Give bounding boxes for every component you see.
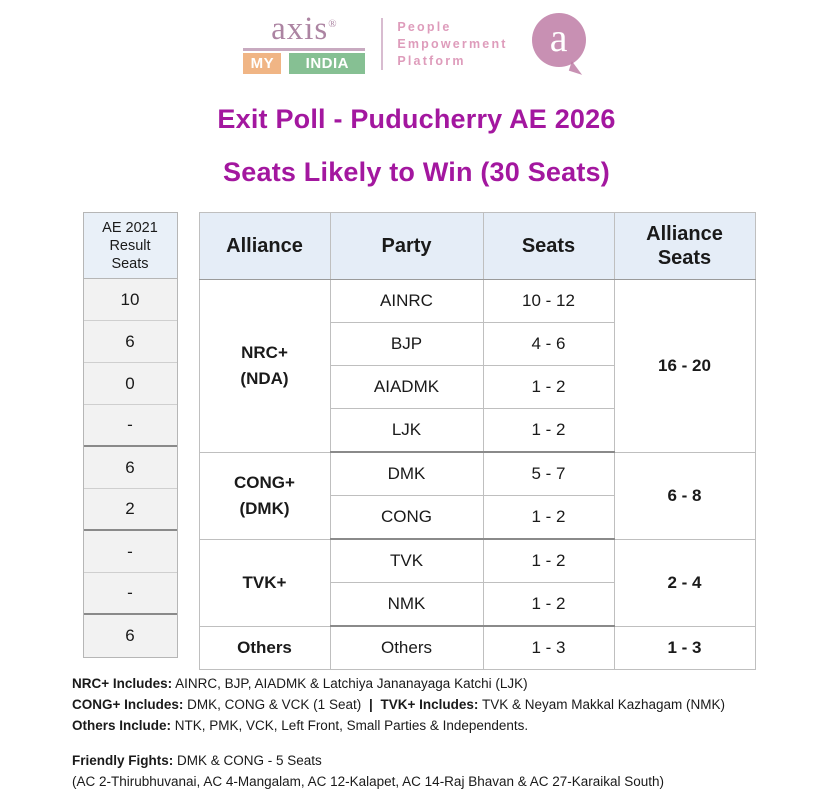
header-alliance-seats-line-1: Alliance bbox=[615, 222, 755, 246]
party-cell: DMK bbox=[330, 452, 483, 496]
header-alliance: Alliance bbox=[199, 213, 330, 280]
party-cell: CONG bbox=[330, 496, 483, 540]
footnote-friendly-seats: (AC 2-Thirubhuvanai, AC 4-Mangalam, AC 1… bbox=[72, 771, 833, 792]
party-seats-cell: 1 - 3 bbox=[483, 626, 614, 670]
party-cell: TVK bbox=[330, 539, 483, 583]
party-seats-cell: 1 - 2 bbox=[483, 539, 614, 583]
footnote-cong-label: CONG+ Includes: bbox=[72, 697, 183, 712]
prev-seat-cell: 0 bbox=[84, 363, 177, 405]
band-my-label: MY bbox=[243, 53, 281, 74]
party-cell: NMK bbox=[330, 583, 483, 627]
footnote-others: Others Include: NTK, PMK, VCK, Left Fron… bbox=[72, 715, 833, 736]
alliance-seats-cell: 1 - 3 bbox=[614, 626, 755, 670]
table-row: CONG+ (DMK) DMK 5 - 7 6 - 8 bbox=[199, 452, 755, 496]
party-seats-cell: 1 - 2 bbox=[483, 366, 614, 409]
alliance-seats-cell: 16 - 20 bbox=[614, 280, 755, 453]
footnote-tvk-label: TVK+ Includes: bbox=[381, 697, 479, 712]
alliance-name-cell: Others bbox=[199, 626, 330, 670]
footnote-tvk-text: TVK & Neyam Makkal Kazhagam (NMK) bbox=[482, 697, 725, 712]
alliance-name-cell: NRC+ (NDA) bbox=[199, 280, 330, 453]
alliance-line-1: NRC+ bbox=[200, 340, 330, 366]
band-india-label: INDIA bbox=[289, 53, 365, 74]
speech-bubble-icon: a bbox=[532, 13, 590, 75]
alliance-line-1: TVK+ bbox=[200, 570, 330, 596]
party-cell: LJK bbox=[330, 409, 483, 453]
alliance-name-cell: CONG+ (DMK) bbox=[199, 452, 330, 539]
party-cell: BJP bbox=[330, 323, 483, 366]
prev-seat-cell: 2 bbox=[84, 489, 177, 531]
footnote-others-text: NTK, PMK, VCK, Left Front, Small Parties… bbox=[175, 718, 528, 733]
footnote-others-label: Others Include: bbox=[72, 718, 171, 733]
my-india-band: MY INDIA bbox=[243, 53, 365, 74]
prev-seat-cell: 6 bbox=[84, 447, 177, 489]
party-seats-cell: 4 - 6 bbox=[483, 323, 614, 366]
prev-header-line-2: Result bbox=[102, 237, 158, 255]
tagline-line-1: People bbox=[397, 19, 507, 36]
logo-divider bbox=[381, 18, 383, 70]
party-seats-cell: 1 - 2 bbox=[483, 496, 614, 540]
prev-seat-cell: 10 bbox=[84, 279, 177, 321]
footnote-separator: | bbox=[365, 697, 377, 712]
alliance-line-2: (NDA) bbox=[200, 366, 330, 392]
footnote-cong-text: DMK, CONG & VCK (1 Seat) bbox=[187, 697, 361, 712]
prev-seat-cell: 6 bbox=[84, 321, 177, 363]
band-white-stripe bbox=[281, 53, 289, 74]
axis-brand-word: axis® bbox=[243, 14, 365, 46]
party-seats-cell: 5 - 7 bbox=[483, 452, 614, 496]
footnote-friendly-label: Friendly Fights: bbox=[72, 753, 173, 768]
header-seats: Seats bbox=[483, 213, 614, 280]
page-subtitle: Seats Likely to Win (30 Seats) bbox=[0, 157, 833, 188]
prev-seat-cell: 6 bbox=[84, 615, 177, 657]
registered-mark-icon: ® bbox=[328, 18, 337, 30]
alliance-seats-cell: 6 - 8 bbox=[614, 452, 755, 539]
table-header-row: Alliance Party Seats Alliance Seats bbox=[199, 213, 755, 280]
party-cell: AIADMK bbox=[330, 366, 483, 409]
axis-my-india-logo: axis® MY INDIA People Empowerment Platfo… bbox=[243, 13, 589, 75]
table-header: Alliance Party Seats Alliance Seats bbox=[199, 213, 755, 280]
exit-poll-table: AE 2021 Result Seats 10 6 0 - 6 2 - - 6 … bbox=[83, 212, 751, 659]
footnote-nrc-text: AINRC, BJP, AIADMK & Latchiya Jananayaga… bbox=[175, 676, 527, 691]
alliance-line-2: (DMK) bbox=[200, 496, 330, 522]
table-body: NRC+ (NDA) AINRC 10 - 12 16 - 20 BJP 4 -… bbox=[199, 280, 755, 670]
header-alliance-seats-line-2: Seats bbox=[615, 246, 755, 270]
previous-result-column: AE 2021 Result Seats 10 6 0 - 6 2 - - 6 bbox=[83, 212, 178, 658]
footnote-nrc: NRC+ Includes: AINRC, BJP, AIADMK & Latc… bbox=[72, 673, 833, 694]
table-row: NRC+ (NDA) AINRC 10 - 12 16 - 20 bbox=[199, 280, 755, 323]
alliance-name-cell: TVK+ bbox=[199, 539, 330, 626]
title-block: Exit Poll - Puducherry AE 2026 Seats Lik… bbox=[0, 104, 833, 188]
footnote-cong-tvk: CONG+ Includes: DMK, CONG & VCK (1 Seat)… bbox=[72, 694, 833, 715]
footnote-nrc-label: NRC+ Includes: bbox=[72, 676, 172, 691]
alliance-line-1: CONG+ bbox=[200, 470, 330, 496]
prev-seat-cell: - bbox=[84, 573, 177, 615]
footnote-friendly-fights: Friendly Fights: DMK & CONG - 5 Seats bbox=[72, 750, 833, 771]
axis-wordmark: axis® MY INDIA bbox=[243, 14, 365, 73]
prev-header-line-3: Seats bbox=[102, 255, 158, 273]
header-alliance-seats: Alliance Seats bbox=[614, 213, 755, 280]
footnotes: NRC+ Includes: AINRC, BJP, AIADMK & Latc… bbox=[72, 673, 833, 792]
tagline-line-2: Empowerment bbox=[397, 36, 507, 53]
tagline: People Empowerment Platform bbox=[397, 19, 507, 70]
table-row: TVK+ TVK 1 - 2 2 - 4 bbox=[199, 539, 755, 583]
header-party: Party bbox=[330, 213, 483, 280]
table-row: Others Others 1 - 3 1 - 3 bbox=[199, 626, 755, 670]
alliance-seats-table: Alliance Party Seats Alliance Seats NRC+… bbox=[199, 212, 756, 670]
page-title: Exit Poll - Puducherry AE 2026 bbox=[0, 104, 833, 135]
prev-header-line-1: AE 2021 bbox=[102, 219, 158, 237]
axis-underline-rule bbox=[243, 48, 365, 51]
party-seats-cell: 1 - 2 bbox=[483, 583, 614, 627]
party-cell: Others bbox=[330, 626, 483, 670]
prev-seat-cell: - bbox=[84, 531, 177, 573]
logo-bar: axis® MY INDIA People Empowerment Platfo… bbox=[0, 0, 833, 88]
bubble-letter: a bbox=[550, 18, 568, 58]
party-seats-cell: 10 - 12 bbox=[483, 280, 614, 323]
prev-seat-cell: - bbox=[84, 405, 177, 447]
tagline-line-3: Platform bbox=[397, 53, 507, 70]
party-seats-cell: 1 - 2 bbox=[483, 409, 614, 453]
footnote-friendly-text: DMK & CONG - 5 Seats bbox=[177, 753, 322, 768]
speech-bubble-circle-icon: a bbox=[532, 13, 586, 67]
alliance-seats-cell: 2 - 4 bbox=[614, 539, 755, 626]
previous-result-header: AE 2021 Result Seats bbox=[84, 213, 177, 279]
footnote-spacer bbox=[72, 736, 833, 750]
party-cell: AINRC bbox=[330, 280, 483, 323]
